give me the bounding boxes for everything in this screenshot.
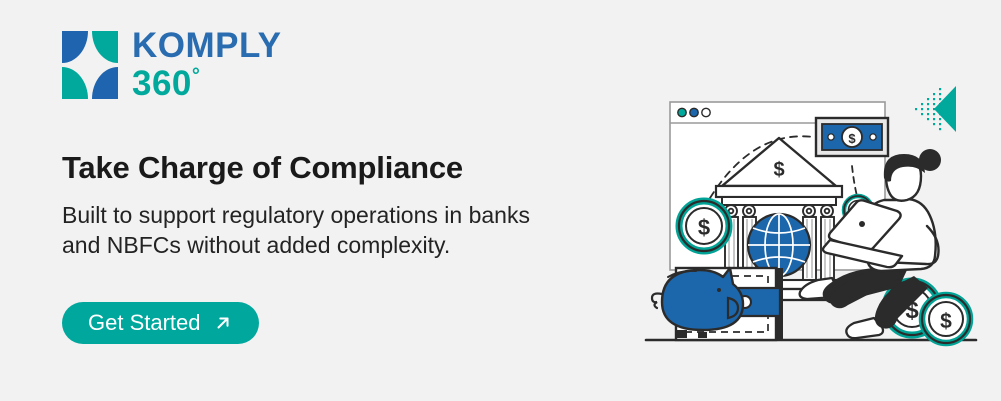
logo-quadrant-top-right: [92, 31, 118, 63]
arrow-up-right-icon: [213, 313, 233, 333]
globe-icon: [748, 214, 810, 276]
brand-name-line2: 360°: [132, 66, 282, 101]
banking-finance-illustration: $: [640, 80, 1000, 370]
banknote-dollar-symbol: $: [848, 131, 856, 146]
brand-logo[interactable]: KOMPLY 360°: [62, 28, 282, 101]
subheadline-line1: Built to support regulatory operations i…: [62, 202, 530, 228]
komply-logo-mark: [62, 31, 118, 99]
page-title: Take Charge of Compliance: [62, 150, 463, 186]
subheadline-line2: and NBFCs without added complexity.: [62, 232, 450, 258]
promo-banner: KOMPLY 360° Take Charge of Compliance Bu…: [0, 0, 1001, 401]
browser-dot-3: [702, 108, 710, 116]
banknote: $: [816, 118, 888, 156]
browser-dot-1: [678, 108, 686, 116]
coin-dollar-symbol: $: [698, 215, 710, 240]
browser-dot-2: [690, 108, 698, 116]
subheadline: Built to support regulatory operations i…: [62, 200, 662, 261]
coin-large-left: $: [679, 201, 729, 251]
piggy-tail: [652, 294, 662, 309]
coin-stack-dollar-2: $: [940, 310, 952, 333]
piggy-eye: [717, 288, 721, 292]
laptop-logo: [859, 221, 865, 227]
brand-name-line1: KOMPLY: [132, 28, 282, 63]
degree-symbol: °: [192, 65, 201, 87]
get-started-button[interactable]: Get Started: [62, 302, 259, 344]
brand-360-text: 360: [132, 64, 192, 103]
brand-wordmark: KOMPLY 360°: [132, 28, 282, 101]
person-hair-bun: [919, 149, 941, 171]
get-started-label: Get Started: [88, 310, 201, 336]
logo-quadrant-top-left: [62, 31, 88, 63]
logo-quadrant-bottom-right: [92, 67, 118, 99]
logo-quadrant-bottom-left: [62, 67, 88, 99]
bank-dollar-symbol: $: [773, 159, 784, 181]
